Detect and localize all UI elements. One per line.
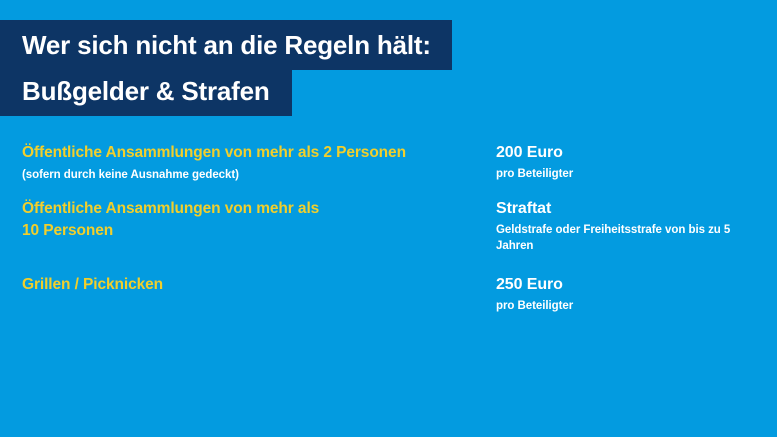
penalty-note: pro Beteiligter <box>496 298 769 314</box>
penalty-amount: 250 Euro <box>496 274 769 295</box>
penalty-table: Öffentliche Ansammlungen von mehr als 2 … <box>0 142 777 314</box>
slide-canvas: Wer sich nicht an die Regeln hält: Bußge… <box>0 0 777 437</box>
penalty-note: Geldstrafe oder Freiheitsstrafe von bis … <box>496 222 746 254</box>
offence-label: Öffentliche Ansammlungen von mehr als 10… <box>22 198 322 242</box>
penalty-cell: Straftat Geldstrafe oder Freiheitsstrafe… <box>477 198 777 254</box>
page-title-line-2: Bußgelder & Strafen <box>0 70 292 116</box>
table-row: Grillen / Picknicken 250 Euro pro Beteil… <box>0 274 777 314</box>
offence-label: Grillen / Picknicken <box>22 274 469 296</box>
table-row: Öffentliche Ansammlungen von mehr als 10… <box>0 198 777 254</box>
penalty-amount: 200 Euro <box>496 142 769 163</box>
offence-cell: Öffentliche Ansammlungen von mehr als 2 … <box>0 142 477 183</box>
page-title-line-1: Wer sich nicht an die Regeln hält: <box>0 20 452 70</box>
offence-label: Öffentliche Ansammlungen von mehr als 2 … <box>22 142 469 164</box>
title-block: Wer sich nicht an die Regeln hält: Bußge… <box>0 20 452 116</box>
offence-cell: Öffentliche Ansammlungen von mehr als 10… <box>0 198 477 242</box>
offence-cell: Grillen / Picknicken <box>0 274 477 296</box>
offence-note: (sofern durch keine Ausnahme gedeckt) <box>22 167 469 183</box>
penalty-cell: 250 Euro pro Beteiligter <box>477 274 777 314</box>
penalty-amount: Straftat <box>496 198 769 219</box>
table-row: Öffentliche Ansammlungen von mehr als 2 … <box>0 142 777 183</box>
penalty-note: pro Beteiligter <box>496 166 769 182</box>
penalty-cell: 200 Euro pro Beteiligter <box>477 142 777 182</box>
